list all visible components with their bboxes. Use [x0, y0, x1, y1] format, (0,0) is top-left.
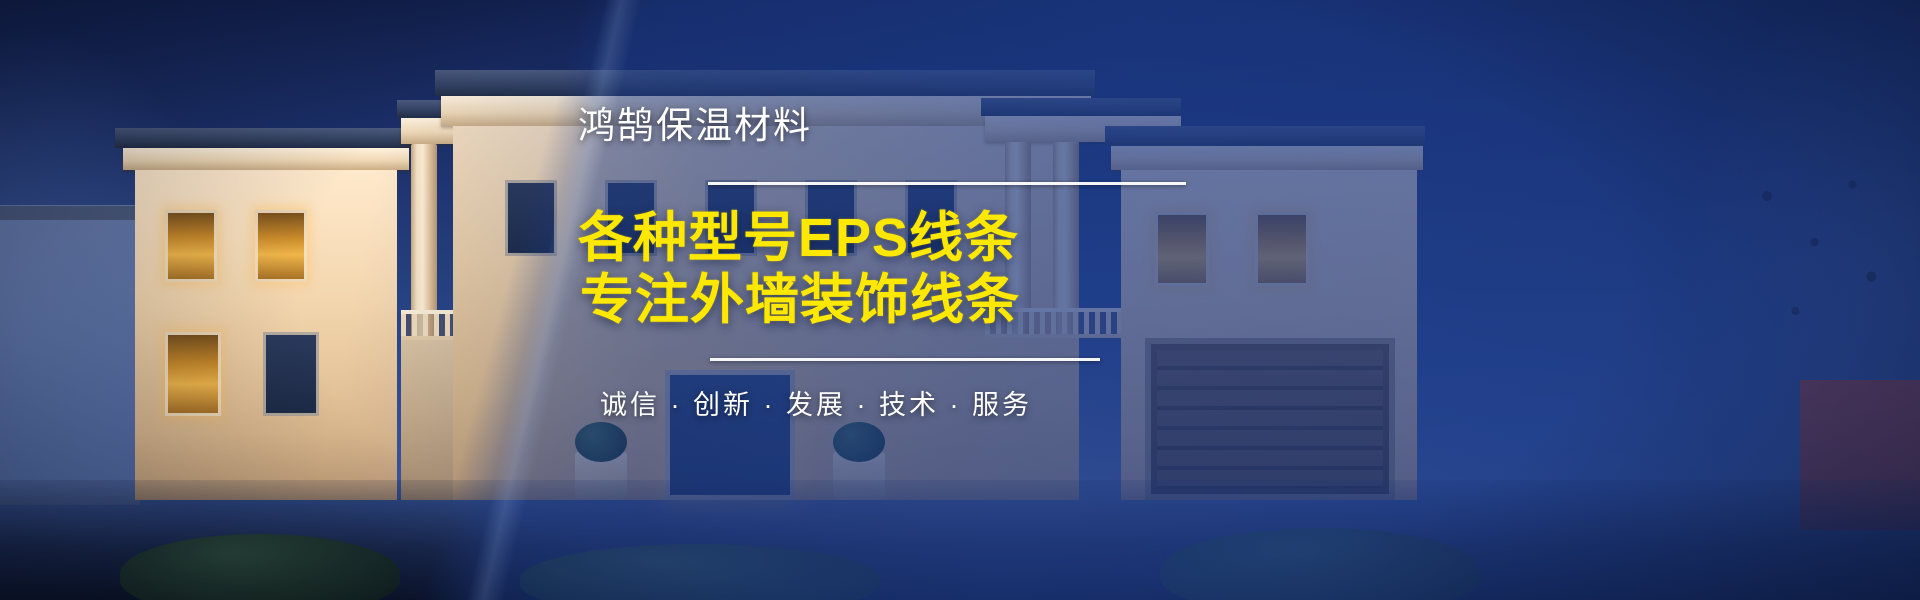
divider-bottom: [710, 358, 1100, 361]
headline-line-1: 各种型号EPS线条: [578, 207, 1218, 270]
divider-top: [708, 182, 1186, 185]
tagline: 诚信 · 创新 · 发展 · 技术 · 服务: [578, 383, 1218, 422]
banner-text-block: 鸿鹄保温材料 各种型号EPS线条 专注外墙装饰线条 诚信 · 创新 · 发展 ·…: [578, 104, 1218, 422]
headline-line-2: 专注外墙装饰线条: [578, 269, 1218, 332]
headline-group: 各种型号EPS线条 专注外墙装饰线条: [578, 207, 1218, 332]
hero-banner: 鸿鹄保温材料 各种型号EPS线条 专注外墙装饰线条 诚信 · 创新 · 发展 ·…: [0, 0, 1920, 600]
brand-name: 鸿鹄保温材料: [578, 104, 1218, 148]
